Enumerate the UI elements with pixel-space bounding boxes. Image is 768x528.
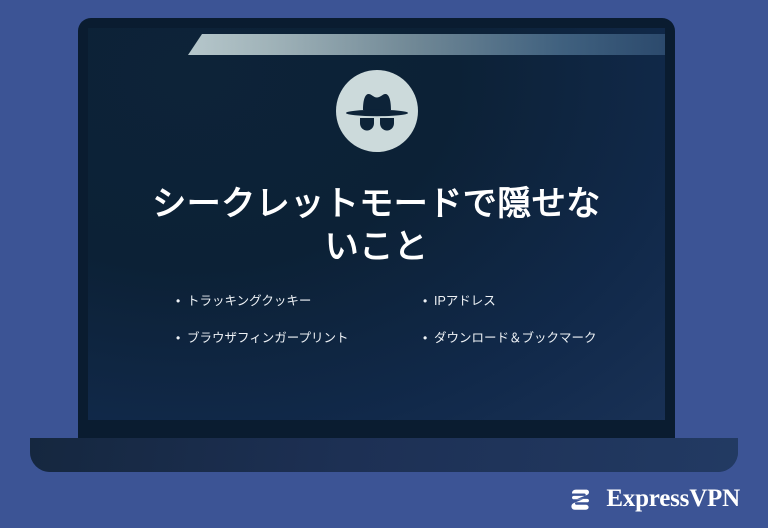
incognito-icon	[336, 70, 418, 152]
bullet-columns: • トラッキングクッキー • ブラウザフィンガープリント • IPアドレス • …	[176, 292, 635, 367]
list-item: • ダウンロード＆ブックマーク	[423, 329, 628, 348]
bullet-dot-icon: •	[423, 292, 434, 311]
list-item: • ブラウザフィンガープリント	[176, 329, 381, 348]
laptop-screen: シークレットモードで隠せないこと • トラッキングクッキー • ブラウザフィンガ…	[88, 28, 665, 420]
bullet-dot-icon: •	[176, 329, 187, 348]
expressvpn-logo-icon	[563, 482, 597, 516]
page-title: シークレットモードで隠せないこと	[148, 183, 605, 268]
bullet-dot-icon: •	[176, 292, 187, 311]
bullet-dot-icon: •	[423, 329, 434, 348]
list-item-label: ブラウザフィンガープリント	[187, 329, 381, 348]
brand-name: ExpressVPN	[606, 485, 740, 513]
slide-canvas: シークレットモードで隠せないこと • トラッキングクッキー • ブラウザフィンガ…	[0, 0, 768, 528]
list-item-label: IPアドレス	[434, 292, 628, 311]
laptop-base	[30, 438, 738, 472]
bullet-column-left: • トラッキングクッキー • ブラウザフィンガープリント	[176, 292, 381, 367]
decorative-top-stripe	[188, 34, 665, 55]
list-item: • トラッキングクッキー	[176, 292, 381, 311]
list-item-label: ダウンロード＆ブックマーク	[434, 329, 628, 348]
list-item-label: トラッキングクッキー	[187, 292, 381, 311]
brand-lockup: ExpressVPN	[563, 482, 740, 516]
list-item: • IPアドレス	[423, 292, 628, 311]
bullet-column-right: • IPアドレス • ダウンロード＆ブックマーク	[423, 292, 628, 367]
